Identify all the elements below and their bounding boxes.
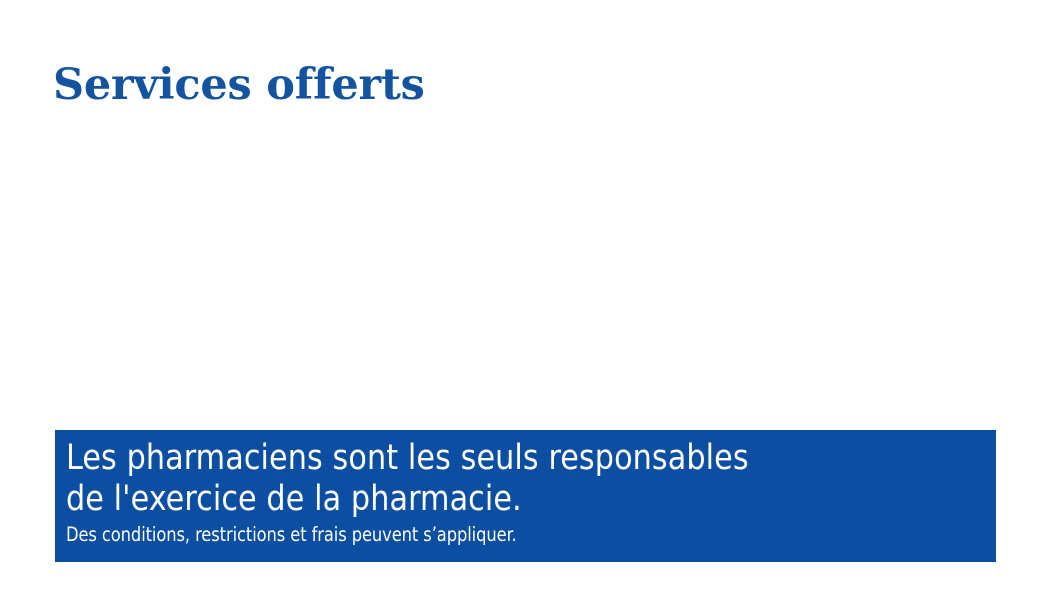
disclaimer-subline: Des conditions, restrictions et frais pe… bbox=[66, 523, 918, 547]
disclaimer-headline-line-1: Les pharmaciens sont les seuls responsab… bbox=[66, 438, 945, 479]
slide-content-area bbox=[55, 135, 996, 425]
disclaimer-banner: Les pharmaciens sont les seuls responsab… bbox=[55, 430, 996, 562]
page-title: Services offerts bbox=[53, 59, 425, 111]
disclaimer-headline-line-2: de l'exercice de la pharmacie. bbox=[66, 479, 945, 520]
slide-canvas: Services offerts Les pharmaciens sont le… bbox=[0, 0, 1050, 600]
disclaimer-headline: Les pharmaciens sont les seuls responsab… bbox=[66, 438, 945, 520]
